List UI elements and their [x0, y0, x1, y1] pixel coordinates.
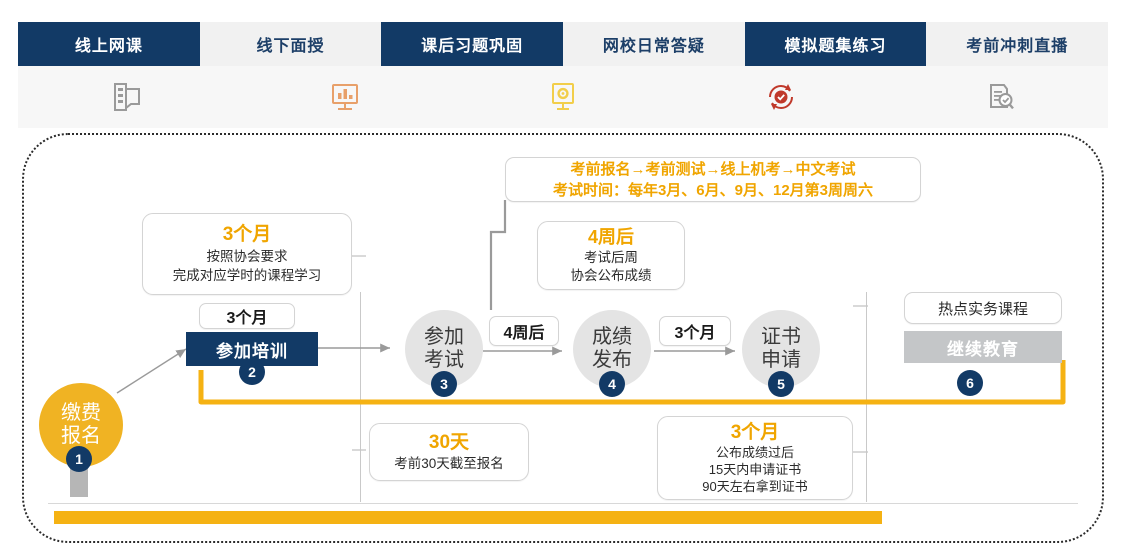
course-type-tabbar: 线上网课 线下面授 课后习题巩固 网校日常答疑 模拟题集练习 考前冲刺直播 [18, 22, 1108, 66]
tab-label: 网校日常答疑 [603, 32, 705, 56]
divider-line-right [866, 292, 867, 502]
tab-label: 线上网课 [75, 32, 143, 56]
pill-result-to-cert: 3个月 [659, 316, 731, 346]
tab-practice-consolidation[interactable]: 课后习题巩固 [381, 22, 563, 66]
training-duration-card: 3个月 按照协会要求 完成对应学时的课程学习 [142, 213, 352, 295]
tab-daily-qa[interactable]: 网校日常答疑 [563, 22, 745, 66]
icon-cell-qa [672, 66, 890, 128]
exam-flow-line2: 考试时间：每年3月、6月、9月、12月第3周周六 [553, 180, 873, 201]
server-document-icon [110, 80, 144, 114]
training-card-line-1: 按照协会要求 [207, 247, 288, 266]
node-6-badge: 6 [957, 370, 983, 396]
result-card-line-1: 考试后周 [584, 249, 638, 267]
node-6-label: 继续教育 [947, 335, 1019, 360]
certificate-timeline-card: 3个月 公布成绩过后 15天内申请证书 90天左右拿到证书 [657, 416, 853, 500]
pill-label: 4周后 [504, 319, 545, 343]
node-6-continuing-education[interactable]: 继续教育 [904, 331, 1062, 363]
bottom-progress-bar [54, 511, 882, 524]
node-1-line-1: 缴费 [61, 402, 101, 425]
result-card-line-2: 协会公布成绩 [571, 267, 652, 285]
exam-flow-notice: 考前报名→考前测试→线上机考→中文考试 考试时间：每年3月、6月、9月、12月第… [505, 157, 921, 202]
registration-deadline-card: 30天 考前30天截至报名 [369, 423, 529, 481]
node-3-line-1: 参加 [424, 326, 464, 349]
divider-line-left [360, 292, 361, 502]
tab-offline-course[interactable]: 线下面授 [200, 22, 382, 66]
pill-label: 3个月 [675, 319, 716, 343]
node-2-label: 参加培训 [216, 337, 288, 362]
node-4-line-1: 成绩 [592, 326, 632, 349]
certificate-card-line-3: 90天左右拿到证书 [702, 478, 807, 495]
tab-online-course[interactable]: 线上网课 [18, 22, 200, 66]
icon-cell-offline-course [236, 66, 454, 128]
certification-roadmap-page: 线上网课 线下面授 课后习题巩固 网校日常答疑 模拟题集练习 考前冲刺直播 [0, 0, 1126, 557]
node-3-line-2: 考试 [424, 349, 464, 372]
exam-flow-line1: 考前报名→考前测试→线上机考→中文考试 [570, 159, 855, 180]
node-1-badge: 1 [66, 446, 92, 472]
hot-course-label: 热点实务课程 [938, 298, 1028, 319]
document-search-icon [982, 80, 1016, 114]
gear-refresh-check-icon [764, 80, 798, 114]
monitor-bar-chart-icon [328, 80, 362, 114]
node-5-badge: 5 [768, 371, 794, 397]
hot-course-card[interactable]: 热点实务课程 [904, 292, 1062, 324]
icon-cell-practice [454, 66, 672, 128]
pill-exam-to-result: 4周后 [489, 316, 559, 346]
tab-label: 线下面授 [257, 32, 325, 56]
icon-cell-pre-exam [890, 66, 1108, 128]
pill-above-training: 3个月 [199, 303, 295, 329]
certificate-card-line-1: 公布成绩过后 [716, 444, 794, 461]
node-2-badge: 2 [239, 359, 265, 385]
deadline-card-highlight: 30天 [429, 431, 469, 455]
node-5-line-2: 申请 [761, 349, 801, 372]
training-card-highlight: 3个月 [223, 223, 272, 247]
monitor-gear-icon [546, 80, 580, 114]
certificate-card-highlight: 3个月 [731, 421, 780, 444]
tab-label: 课后习题巩固 [421, 32, 523, 56]
certificate-card-line-2: 15天内申请证书 [709, 461, 801, 478]
deadline-card-line-1: 考前30天截至报名 [394, 455, 504, 473]
tab-label: 考前冲刺直播 [966, 32, 1068, 56]
result-card-highlight: 4周后 [588, 226, 634, 249]
node-3-badge: 3 [431, 371, 457, 397]
pill-label: 3个月 [227, 304, 268, 328]
divider-line-bottom [48, 503, 1078, 504]
feature-icon-bar [18, 66, 1108, 128]
node-1-line-2: 报名 [61, 425, 101, 448]
node-4-line-2: 发布 [592, 349, 632, 372]
node-4-badge: 4 [599, 371, 625, 397]
training-card-line-2: 完成对应学时的课程学习 [173, 266, 322, 285]
tab-pre-exam-live[interactable]: 考前冲刺直播 [926, 22, 1108, 66]
icon-cell-online-course [18, 66, 236, 128]
tab-label: 模拟题集练习 [785, 32, 887, 56]
node-5-line-1: 证书 [761, 326, 801, 349]
result-publish-card: 4周后 考试后周 协会公布成绩 [537, 221, 685, 290]
tab-mock-exam[interactable]: 模拟题集练习 [745, 22, 927, 66]
